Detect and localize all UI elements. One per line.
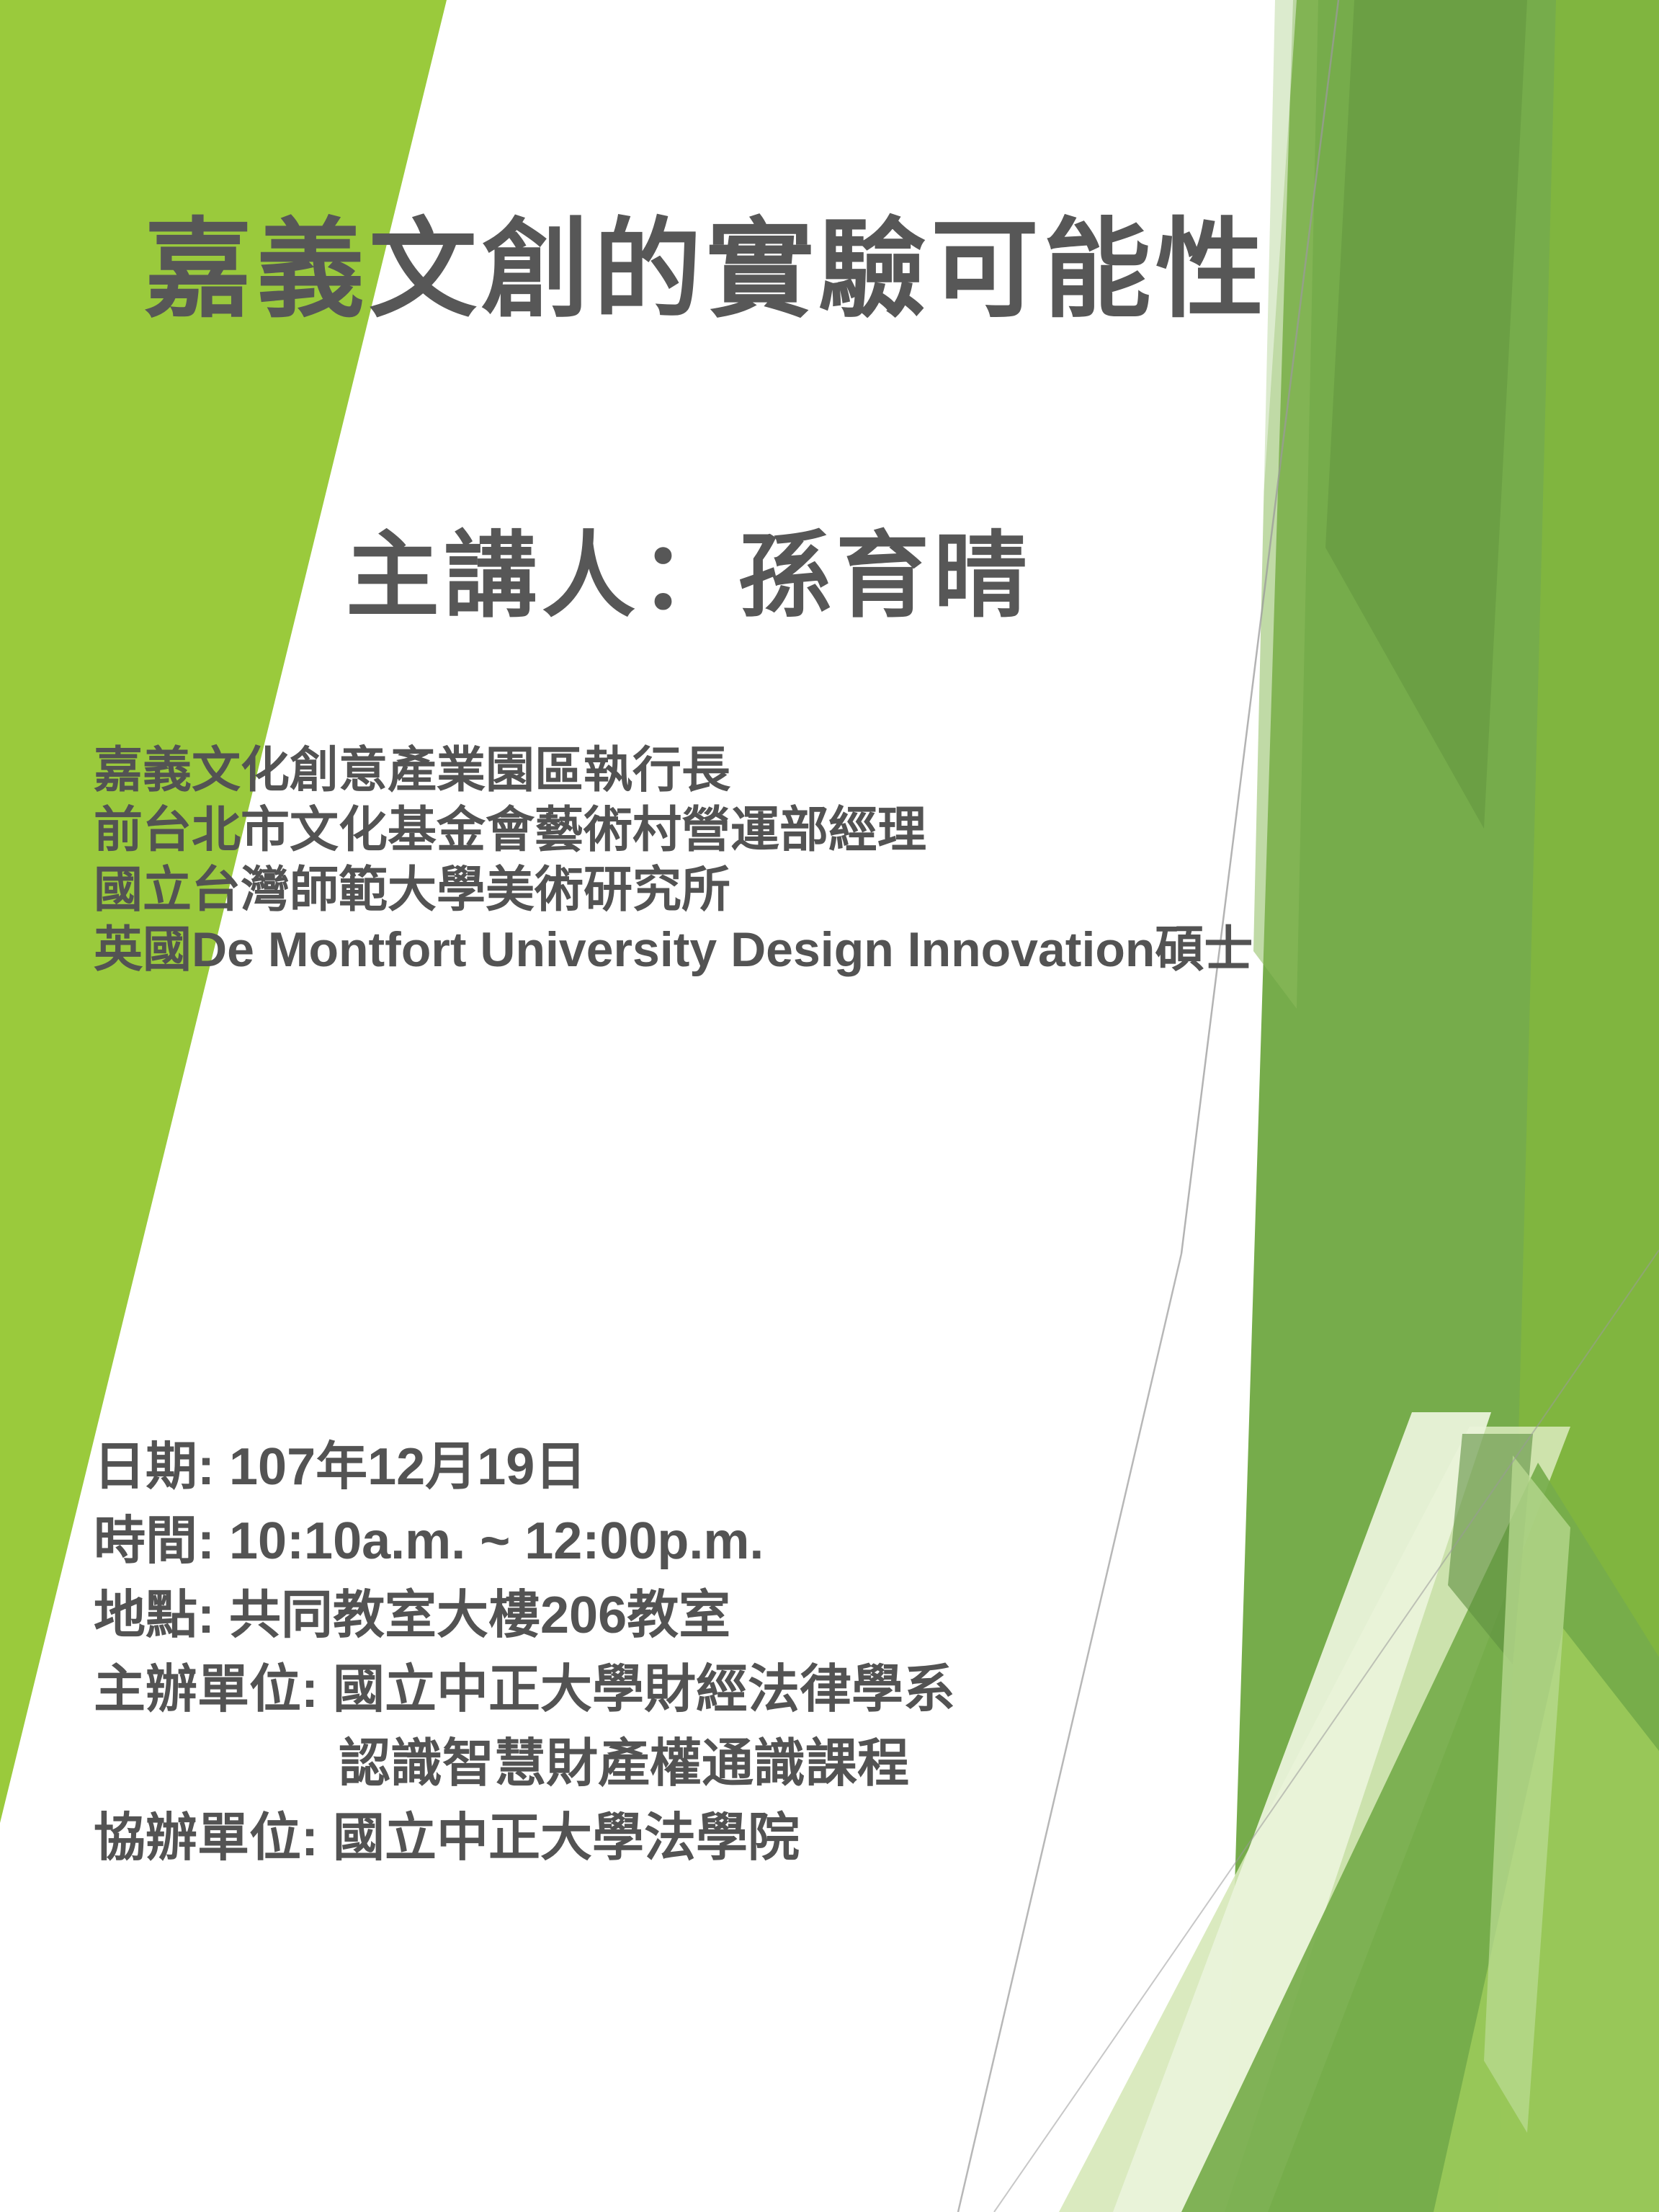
poster-speaker-block: 主講人：孫育晴 <box>346 522 1498 630</box>
bio-line: 英國De Montfort University Design Innovati… <box>94 920 1570 980</box>
poster-title-block: 嘉義文創的實驗可能性 <box>144 209 1513 330</box>
center-deep-green-slab <box>1225 0 1556 2212</box>
bio-line: 國立台灣師範大學美術研究所 <box>94 860 1570 920</box>
detail-line-course: 認識智慧財產權通識課程 <box>94 1727 1534 1801</box>
right-bright-band <box>1462 0 1659 2212</box>
speaker-name-heading: 主講人：孫育晴 <box>346 522 1498 630</box>
decorative-background-art <box>0 0 1659 2212</box>
event-details-list: 日期: 107年12月19日 時間: 10:10a.m. ~ 12:00p.m.… <box>94 1430 1534 1876</box>
event-poster: 嘉義文創的實驗可能性 主講人：孫育晴 嘉義文化創意產業園區執行長 前台北市文化基… <box>0 0 1659 2212</box>
detail-line-date: 日期: 107年12月19日 <box>94 1430 1534 1504</box>
right-mid-band <box>1412 0 1659 2212</box>
page-title: 嘉義文創的實驗可能性 <box>144 209 1513 330</box>
detail-line-time: 時間: 10:10a.m. ~ 12:00p.m. <box>94 1504 1534 1579</box>
detail-line-coorganizer: 協辦單位: 國立中正大學法學院 <box>94 1801 1534 1876</box>
detail-line-organizer: 主辦單位: 國立中正大學財經法律學系 <box>94 1653 1534 1727</box>
bio-line: 嘉義文化創意產業園區執行長 <box>94 741 1570 800</box>
upper-dark-accent <box>1325 0 1527 829</box>
speaker-bio-list: 嘉義文化創意產業園區執行長 前台北市文化基金會藝術村營運部經理 國立台灣師範大學… <box>94 741 1570 980</box>
detail-line-location: 地點: 共同教室大樓206教室 <box>94 1579 1534 1653</box>
bio-line: 前台北市文化基金會藝術村營運部經理 <box>94 800 1570 860</box>
